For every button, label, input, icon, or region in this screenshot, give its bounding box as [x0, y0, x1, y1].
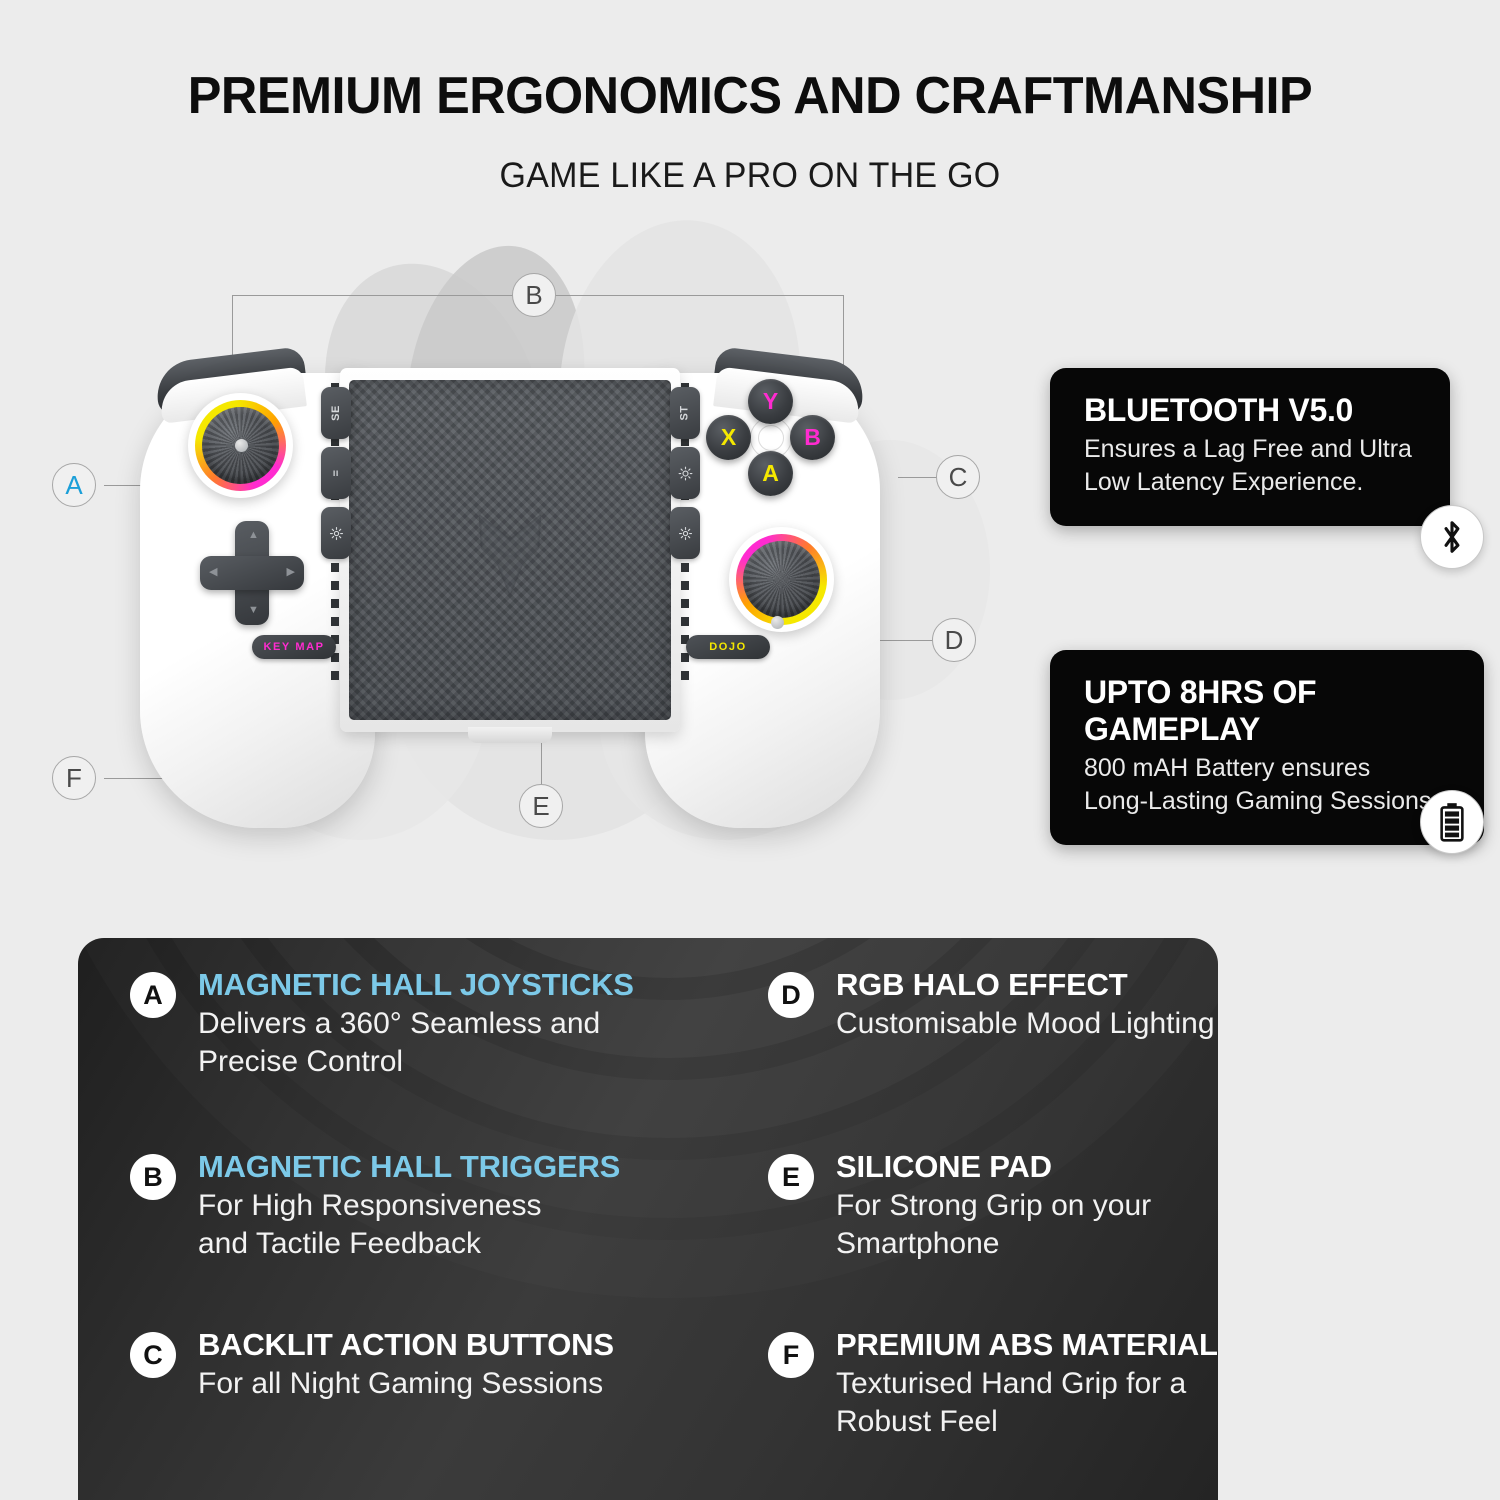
spec-card-battery-body: 800 mAH Battery ensures Long-Lasting Gam…: [1084, 752, 1450, 819]
dojo-label: DOJO: [709, 641, 747, 653]
feature-desc-e: For Strong Grip on your Smartphone: [836, 1187, 1151, 1263]
callout-badge-c[interactable]: C: [936, 455, 980, 499]
feature-item-c: C BACKLIT ACTION BUTTONS For all Night G…: [130, 1328, 614, 1403]
spec-card-bluetooth-body: Ensures a Lag Free and Ultra Low Latency…: [1084, 433, 1416, 500]
feature-title-d: RGB HALO EFFECT: [836, 968, 1215, 1002]
brightness-icon: [678, 466, 693, 481]
bluetooth-icon: [1437, 518, 1467, 556]
button-x[interactable]: X: [706, 415, 751, 460]
gear-icon: [329, 526, 344, 541]
menu-button[interactable]: =: [321, 447, 351, 499]
key-map-button[interactable]: KEY MAP: [252, 635, 336, 659]
feature-desc-b: For High Responsiveness and Tactile Feed…: [198, 1187, 620, 1263]
battery-icon: [1439, 802, 1465, 842]
feature-item-f: F PREMIUM ABS MATERIAL Texturised Hand G…: [768, 1328, 1218, 1441]
button-y[interactable]: Y: [748, 379, 793, 424]
spec-card-bluetooth: BLUETOOTH V5.0 Ensures a Lag Free and Ul…: [1050, 368, 1450, 526]
page-title: PREMIUM ERGONOMICS AND CRAFTMANSHIP: [23, 66, 1478, 126]
feature-badge-a: A: [130, 972, 176, 1018]
dojo-button[interactable]: DOJO: [686, 635, 770, 659]
feature-badge-e: E: [768, 1154, 814, 1200]
callout-badge-d[interactable]: D: [932, 618, 976, 662]
battery-icon-badge: [1420, 790, 1484, 854]
bluetooth-icon-badge: [1420, 505, 1484, 569]
feature-title-c: BACKLIT ACTION BUTTONS: [198, 1328, 614, 1362]
feature-title-e: SILICONE PAD: [836, 1150, 1151, 1184]
silicone-pad: [349, 380, 671, 720]
right-joystick[interactable]: [729, 527, 834, 632]
brand-logo: [460, 502, 560, 598]
feature-badge-d: D: [768, 972, 814, 1018]
left-joystick[interactable]: [188, 393, 293, 498]
start-button-label: ST: [679, 405, 691, 420]
action-buttons-cluster: Y X B A: [706, 379, 834, 497]
select-button-label: SE: [330, 405, 342, 421]
feature-item-e: E SILICONE PAD For Strong Grip on your S…: [768, 1150, 1151, 1263]
d-pad[interactable]: ▲ ▼ ◀ ▶: [200, 521, 304, 625]
feature-title-a: MAGNETIC HALL JOYSTICKS: [198, 968, 634, 1002]
settings-button-left[interactable]: [321, 507, 351, 559]
callout-badge-b[interactable]: B: [512, 273, 556, 317]
start-button[interactable]: ST: [670, 387, 700, 439]
gear-icon: [678, 526, 693, 541]
callout-badge-a[interactable]: A: [52, 463, 96, 507]
features-list: A MAGNETIC HALL JOYSTICKS Delivers a 360…: [78, 938, 1218, 1500]
feature-title-f: PREMIUM ABS MATERIAL: [836, 1328, 1218, 1362]
feature-title-b: MAGNETIC HALL TRIGGERS: [198, 1150, 620, 1184]
game-controller: ▲ ▼ ◀ ▶ SE = ST: [140, 335, 880, 855]
key-map-label: KEY MAP: [263, 641, 324, 653]
spec-card-bluetooth-title: BLUETOOTH V5.0: [1084, 392, 1416, 429]
page-header: PREMIUM ERGONOMICS AND CRAFTMANSHIP GAME…: [0, 0, 1500, 196]
feature-item-d: D RGB HALO EFFECT Customisable Mood Ligh…: [768, 968, 1215, 1043]
brightness-button[interactable]: [670, 447, 700, 499]
feature-badge-b: B: [130, 1154, 176, 1200]
features-panel: A MAGNETIC HALL JOYSTICKS Delivers a 360…: [78, 938, 1218, 1500]
feature-item-a: A MAGNETIC HALL JOYSTICKS Delivers a 360…: [130, 968, 634, 1081]
spec-card-battery-title: UPTO 8HRS OF GAMEPLAY: [1084, 674, 1450, 748]
feature-desc-d: Customisable Mood Lighting: [836, 1005, 1215, 1043]
feature-item-b: B MAGNETIC HALL TRIGGERS For High Respon…: [130, 1150, 620, 1263]
select-button[interactable]: SE: [321, 387, 351, 439]
button-b[interactable]: B: [790, 415, 835, 460]
menu-button-label: =: [330, 470, 342, 477]
feature-badge-c: C: [130, 1332, 176, 1378]
feature-badge-f: F: [768, 1332, 814, 1378]
feature-desc-c: For all Night Gaming Sessions: [198, 1365, 614, 1403]
button-a[interactable]: A: [748, 451, 793, 496]
callout-badge-f[interactable]: F: [52, 756, 96, 800]
feature-desc-f: Texturised Hand Grip for a Robust Feel: [836, 1365, 1218, 1441]
settings-button-right[interactable]: [670, 507, 700, 559]
spec-card-battery: UPTO 8HRS OF GAMEPLAY 800 mAH Battery en…: [1050, 650, 1484, 845]
page-subtitle: GAME LIKE A PRO ON THE GO: [23, 156, 1478, 196]
feature-desc-a: Delivers a 360° Seamless and Precise Con…: [198, 1005, 634, 1081]
